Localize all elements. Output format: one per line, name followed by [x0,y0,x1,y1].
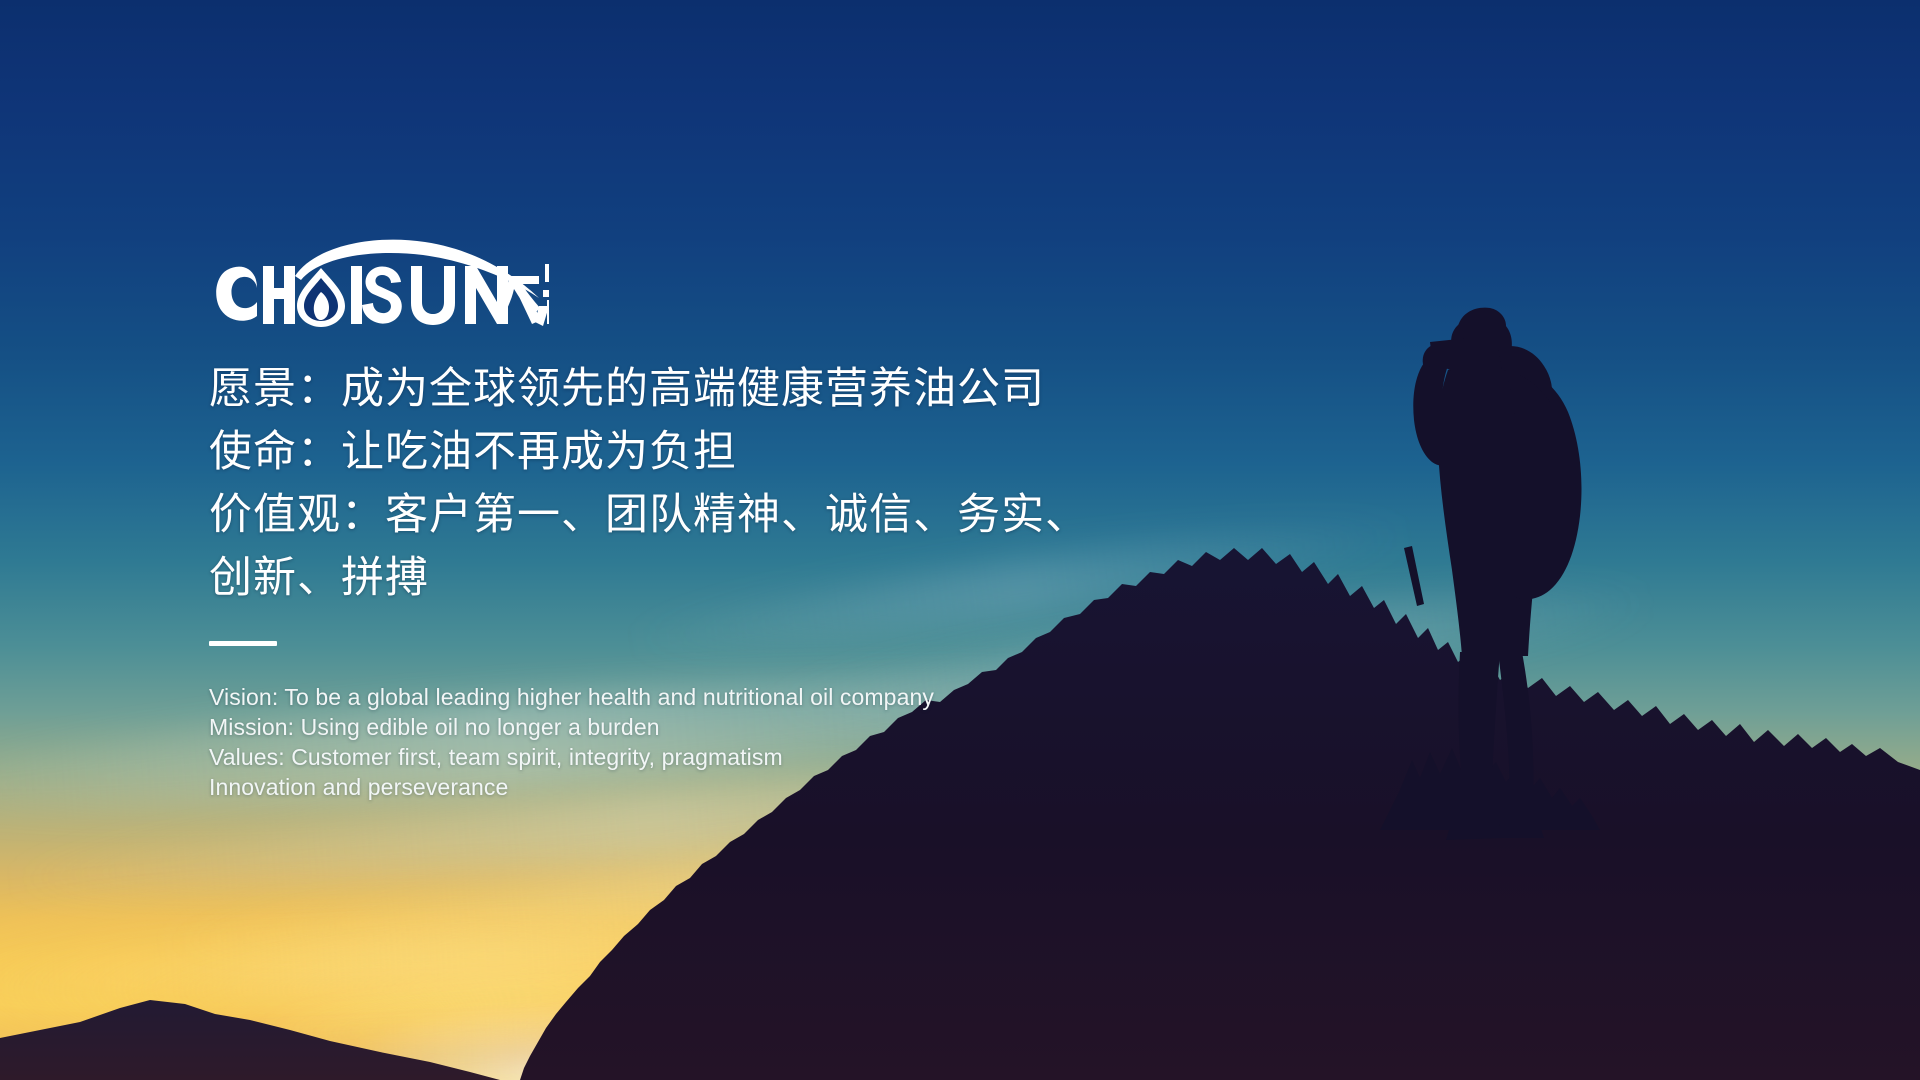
brand-logo-svg [209,236,549,336]
content-block: 愿景：成为全球领先的高端健康营养油公司 使命：让吃油不再成为负担 价值观：客户第… [209,236,1209,802]
statement-chinese: 愿景：成为全球领先的高端健康营养油公司 使命：让吃油不再成为负担 价值观：客户第… [209,358,1209,610]
brand-logo[interactable] [209,236,549,336]
values-line-cn-cont: 创新、拼搏 [209,547,1209,610]
section-divider [209,641,277,646]
logo-letters-left [216,266,295,324]
logo-letters-right [351,266,508,325]
slide-canvas: 愿景：成为全球领先的高端健康营养油公司 使命：让吃油不再成为负担 价值观：客户第… [0,0,1920,1080]
values-line-en: Values: Customer first, team spirit, int… [209,742,1209,772]
vision-line-en: Vision: To be a global leading higher he… [209,682,1209,712]
vision-line-cn: 愿景：成为全球领先的高端健康营养油公司 [209,358,1209,421]
water-droplet-icon [297,268,345,327]
statement-english: Vision: To be a global leading higher he… [209,682,1209,802]
values-line-cn: 价值观：客户第一、团队精神、诚信、务实、 [209,484,1209,547]
values-line-en-cont: Innovation and perseverance [209,772,1209,802]
mission-line-en: Mission: Using edible oil no longer a bu… [209,712,1209,742]
mission-line-cn: 使命：让吃油不再成为负担 [209,421,1209,484]
